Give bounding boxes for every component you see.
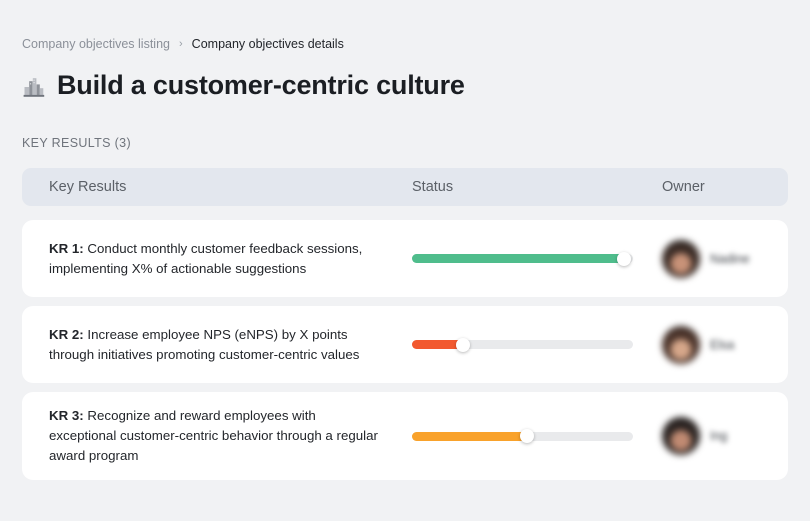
key-result-label: KR 1: (49, 241, 84, 256)
progress-handle[interactable] (456, 338, 470, 352)
table-header-row: Key Results Status Owner (22, 168, 788, 206)
chevron-right-icon: › (179, 39, 183, 50)
table-body: KR 1: Conduct monthly customer feedback … (22, 220, 788, 480)
page-title: Build a customer-centric culture (57, 71, 465, 101)
column-header-status: Status (412, 179, 662, 195)
owner-cell[interactable]: Elsa (662, 326, 788, 364)
table-row[interactable]: KR 2: Increase employee NPS (eNPS) by X … (22, 306, 788, 383)
avatar (662, 417, 700, 455)
owner-cell[interactable]: Ing (662, 417, 788, 455)
avatar (662, 326, 700, 364)
owner-name: Nadine (710, 252, 750, 266)
progress-slider[interactable] (412, 340, 633, 349)
breadcrumb-current-details: Company objectives details (192, 38, 344, 51)
cityscape-buildings-icon (22, 75, 46, 99)
breadcrumb: Company objectives listing › Company obj… (22, 0, 788, 51)
progress-handle[interactable] (520, 429, 534, 443)
table-row[interactable]: KR 3: Recognize and reward employees wit… (22, 392, 788, 480)
key-results-section-label: KEY RESULTS (3) (22, 136, 788, 150)
key-results-table: Key Results Status Owner KR 1: Conduct m… (22, 168, 788, 480)
owner-name: Elsa (710, 338, 734, 352)
key-result-text: KR 2: Increase employee NPS (eNPS) by X … (49, 325, 412, 365)
breadcrumb-link-listing[interactable]: Company objectives listing (22, 38, 170, 51)
avatar (662, 240, 700, 278)
column-header-key-results: Key Results (49, 179, 412, 195)
table-row[interactable]: KR 1: Conduct monthly customer feedback … (22, 220, 788, 297)
progress-fill (412, 254, 624, 263)
progress-slider[interactable] (412, 254, 633, 263)
key-result-text: KR 3: Recognize and reward employees wit… (49, 406, 412, 466)
key-result-text: KR 1: Conduct monthly customer feedback … (49, 239, 412, 279)
progress-fill (412, 432, 527, 441)
owner-name: Ing (710, 429, 727, 443)
key-result-label: KR 3: (49, 408, 84, 423)
key-result-label: KR 2: (49, 327, 84, 342)
column-header-owner: Owner (662, 179, 788, 195)
status-cell (412, 254, 662, 263)
page-title-row: Build a customer-centric culture (22, 71, 788, 101)
owner-cell[interactable]: Nadine (662, 240, 788, 278)
status-cell (412, 432, 662, 441)
progress-slider[interactable] (412, 432, 633, 441)
objective-details-page: Company objectives listing › Company obj… (0, 0, 810, 521)
status-cell (412, 340, 662, 349)
progress-handle[interactable] (617, 252, 631, 266)
